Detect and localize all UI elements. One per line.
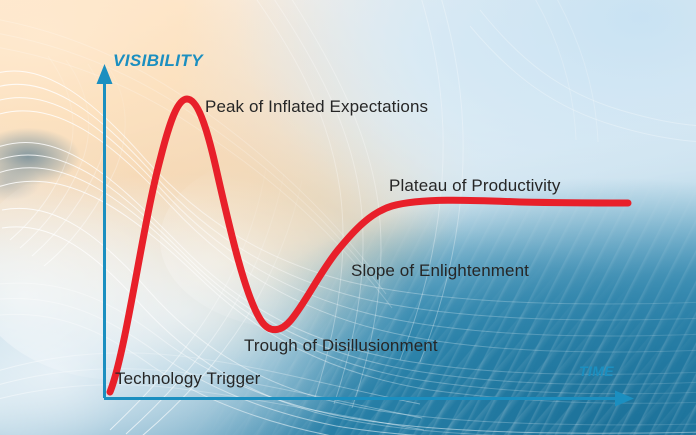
arrow-right-icon (615, 391, 634, 407)
label-trough-of-disillusionment: Trough of Disillusionment (244, 336, 438, 356)
label-peak-of-inflated-expectations: Peak of Inflated Expectations (205, 97, 428, 117)
label-plateau-of-productivity: Plateau of Productivity (389, 176, 560, 196)
label-slope-of-enlightenment: Slope of Enlightenment (351, 261, 529, 281)
y-axis (97, 64, 113, 398)
x-axis (104, 391, 634, 407)
hype-cycle-figure: VISIBILITY TIME Peak of Inflated Expecta… (0, 0, 696, 435)
x-axis-label: TIME (579, 363, 614, 379)
y-axis-label: VISIBILITY (113, 51, 203, 71)
arrow-up-icon (97, 64, 113, 84)
label-technology-trigger: Technology Trigger (115, 369, 260, 389)
